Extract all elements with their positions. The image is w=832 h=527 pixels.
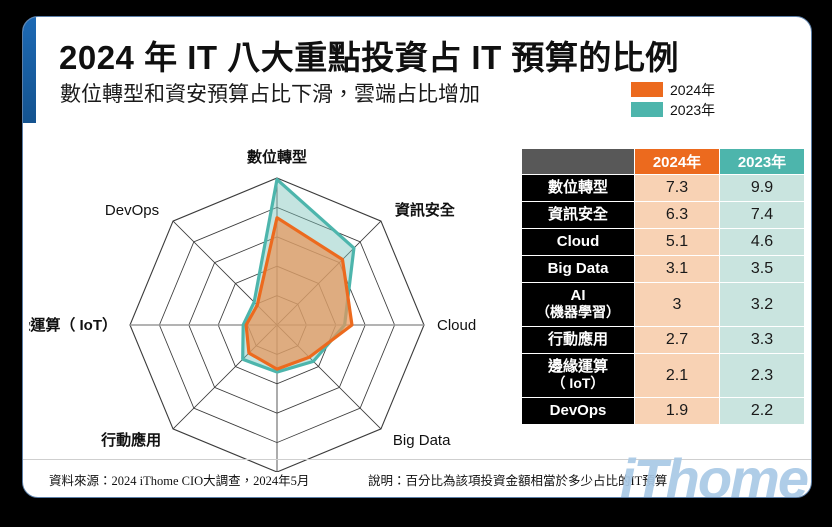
legend-label-2024: 2024年 — [670, 80, 715, 100]
legend-swatch-2024-icon — [631, 82, 663, 97]
legend-item-2024: 2024年 — [631, 81, 715, 98]
table-row-label-sub: （機器學習） — [522, 305, 634, 321]
header-accent-bar — [23, 17, 36, 123]
table-row-label: 邊緣運算（ IoT） — [522, 354, 635, 398]
screenshot-root: 2024 年 IT 八大重點投資占 IT 預算的比例 數位轉型和資安預算占比下滑… — [0, 0, 832, 527]
table-cell-2024: 5.1 — [635, 229, 720, 256]
table-cell-2024: 3 — [635, 283, 720, 327]
table-row-label-main: Big Data — [548, 260, 609, 277]
table-cell-2023: 4.6 — [720, 229, 805, 256]
table-row-label-main: 資訊安全 — [548, 206, 608, 223]
table-row-label: 數位轉型 — [522, 175, 635, 202]
table-row: 邊緣運算（ IoT）2.12.3 — [522, 354, 805, 398]
table-row-label-main: Cloud — [557, 233, 600, 250]
table-header-2024: 2024年 — [635, 149, 720, 175]
radar-axis-label-2: Cloud — [437, 317, 476, 334]
radar-chart: 數位轉型資訊安全CloudBig DataAI（機器學習）行動應用邊緣運算（ I… — [29, 127, 529, 472]
table-row-label-main: 數位轉型 — [548, 179, 608, 196]
table-row-label: DevOps — [522, 398, 635, 425]
radar-axis-label-0: 數位轉型 — [246, 148, 307, 166]
table-cell-2024: 2.1 — [635, 354, 720, 398]
table-cell-2024: 1.9 — [635, 398, 720, 425]
table-header-row: 2024年 2023年 — [522, 149, 805, 175]
table-row-label: 行動應用 — [522, 327, 635, 354]
radar-axis-label-7: DevOps — [105, 202, 159, 219]
data-table: 2024年 2023年 數位轉型7.39.9資訊安全6.37.4Cloud5.1… — [521, 148, 805, 425]
table-row: DevOps1.92.2 — [522, 398, 805, 425]
table-row-label-main: AI — [571, 287, 586, 304]
table-body: 數位轉型7.39.9資訊安全6.37.4Cloud5.14.6Big Data3… — [522, 175, 805, 425]
data-table-wrap: 2024年 2023年 數位轉型7.39.9資訊安全6.37.4Cloud5.1… — [521, 148, 804, 425]
table-row: Big Data3.13.5 — [522, 256, 805, 283]
table-row: AI（機器學習）33.2 — [522, 283, 805, 327]
table-row-label-main: 行動應用 — [548, 331, 608, 348]
table-row-label: AI（機器學習） — [522, 283, 635, 327]
radar-axis-label-1: 資訊安全 — [395, 201, 456, 219]
chart-legend: 2024年 2023年 — [631, 81, 715, 118]
table-row: 行動應用2.73.3 — [522, 327, 805, 354]
table-cell-2023: 2.3 — [720, 354, 805, 398]
footer-note: 說明：百分比為該項投資金額相當於多少占比的IT預算 — [368, 470, 667, 489]
radar-axis-label-5: 行動應用 — [100, 431, 161, 449]
table-cell-2024: 6.3 — [635, 202, 720, 229]
header: 2024 年 IT 八大重點投資占 IT 預算的比例 數位轉型和資安預算占比下滑… — [23, 17, 812, 123]
footer-divider — [23, 459, 812, 460]
table-header-blank — [522, 149, 635, 175]
table-row-label: Big Data — [522, 256, 635, 283]
table-row: Cloud5.14.6 — [522, 229, 805, 256]
table-row-label-main: DevOps — [550, 402, 607, 419]
table-cell-2023: 2.2 — [720, 398, 805, 425]
table-cell-2023: 3.5 — [720, 256, 805, 283]
legend-swatch-2023-icon — [631, 102, 663, 117]
table-row-label-main: 邊緣運算 — [548, 358, 608, 375]
table-cell-2024: 3.1 — [635, 256, 720, 283]
radar-axis-label-3: Big Data — [393, 432, 451, 449]
table-cell-2024: 2.7 — [635, 327, 720, 354]
footer: 資料來源：2024 iThome CIO大調查，2024年5月 說明：百分比為該… — [23, 459, 812, 497]
radar-axis-label-6: 邊緣運算（ IoT） — [29, 316, 117, 334]
legend-label-2023: 2023年 — [670, 100, 715, 120]
table-row-label: Cloud — [522, 229, 635, 256]
table-row-label-sub: （ IoT） — [522, 376, 634, 392]
infographic-card: 2024 年 IT 八大重點投資占 IT 預算的比例 數位轉型和資安預算占比下滑… — [22, 16, 812, 498]
page-subtitle: 數位轉型和資安預算占比下滑，雲端占比增加 — [60, 78, 480, 108]
radar-chart-svg: 數位轉型資訊安全CloudBig DataAI（機器學習）行動應用邊緣運算（ I… — [29, 127, 529, 472]
table-cell-2024: 7.3 — [635, 175, 720, 202]
table-header-2023: 2023年 — [720, 149, 805, 175]
table-cell-2023: 3.3 — [720, 327, 805, 354]
page-title: 2024 年 IT 八大重點投資占 IT 預算的比例 — [59, 31, 679, 79]
table-cell-2023: 7.4 — [720, 202, 805, 229]
table-row-label: 資訊安全 — [522, 202, 635, 229]
table-row: 資訊安全6.37.4 — [522, 202, 805, 229]
table-cell-2023: 3.2 — [720, 283, 805, 327]
table-row: 數位轉型7.39.9 — [522, 175, 805, 202]
legend-item-2023: 2023年 — [631, 101, 715, 118]
footer-source: 資料來源：2024 iThome CIO大調查，2024年5月 — [49, 470, 309, 489]
table-cell-2023: 9.9 — [720, 175, 805, 202]
